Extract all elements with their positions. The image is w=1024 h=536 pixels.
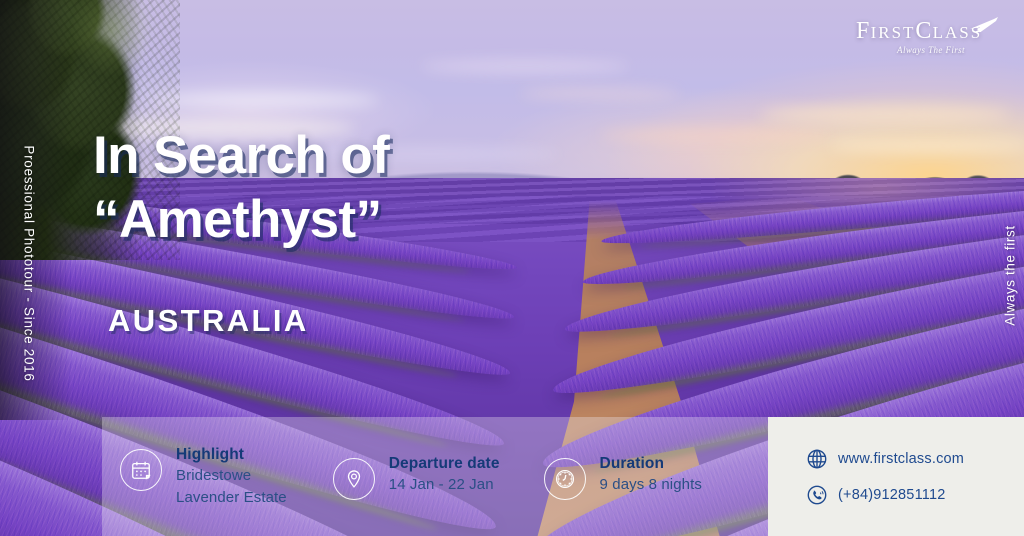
brand-logo: FIRSTCLASS Always The First (856, 18, 1006, 62)
page-title: In Search of “Amethyst” (93, 124, 389, 252)
phone-icon (806, 484, 828, 506)
logo-f: F (856, 18, 871, 44)
cloud (520, 88, 680, 99)
website-text: www.firstclass.com (838, 451, 964, 467)
cloud (760, 105, 1010, 123)
info-text: Departure date 14 Jan - 22 Jan (389, 454, 500, 496)
vertical-tagline-right: Always the first (1003, 166, 1018, 386)
airplane-icon (968, 16, 1002, 34)
info-value: 9 days 8 nights (600, 474, 702, 496)
globe-icon (806, 448, 828, 470)
map-pin-icon (333, 458, 375, 500)
info-label: Departure date (389, 454, 500, 474)
info-text: Highlight Bridestowe Lavender Estate (176, 445, 287, 509)
calendar-icon (120, 449, 162, 491)
info-item-highlight: Highlight Bridestowe Lavender Estate (120, 445, 287, 509)
logo-c: C (915, 18, 932, 44)
trip-info-bar: Highlight Bridestowe Lavender Estate Dep… (102, 417, 768, 536)
contact-website-row[interactable]: www.firstclass.com (806, 448, 1024, 470)
info-value: 14 Jan - 22 Jan (389, 474, 500, 496)
destination-label: AUSTRALIA (108, 303, 309, 339)
cloud (600, 128, 830, 142)
info-value: Bridestowe Lavender Estate (176, 465, 287, 509)
logo-tagline: Always The First (856, 45, 1006, 55)
info-text: Duration 9 days 8 nights (600, 454, 702, 496)
contact-phone-row[interactable]: (+84)912851112 (806, 484, 1024, 506)
phone-text: (+84)912851112 (838, 487, 945, 503)
info-item-departure-date: Departure date 14 Jan - 22 Jan (333, 454, 500, 500)
logo-irst: IRST (871, 23, 916, 42)
travel-poster: FIRSTCLASS Always The First In Search of… (0, 0, 1024, 536)
cloud (420, 60, 630, 73)
info-label: Duration (600, 454, 702, 474)
contact-panel: www.firstclass.com (+84)912851112 (768, 417, 1024, 536)
clock-icon (544, 458, 586, 500)
vertical-tagline-left: Proessional Phototour - Since 2016 (22, 114, 37, 414)
cloud (150, 92, 380, 108)
info-label: Highlight (176, 445, 287, 465)
info-item-duration: Duration 9 days 8 nights (544, 454, 702, 500)
